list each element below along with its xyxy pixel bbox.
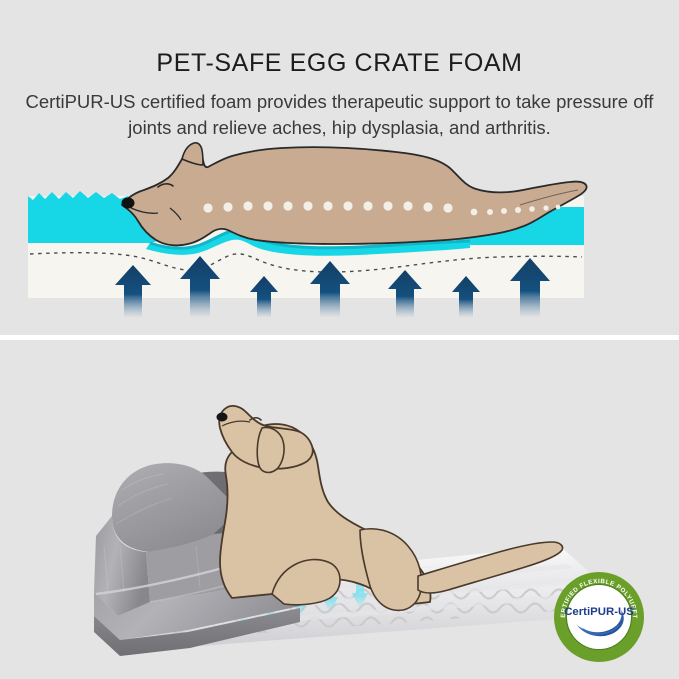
- page-title-top: PET-SAFE EGG CRATE FOAM: [0, 49, 679, 78]
- certipur-us-seal: CONTAINS CERTIFIED FLEXIBLE POLYURETHANE…: [553, 571, 645, 663]
- dog-nose: [122, 198, 135, 209]
- product-infographic: PET-SAFE EGG CRATE FOAM CertiPUR-US cert…: [0, 0, 679, 679]
- dog-nose: [217, 413, 228, 422]
- panel-description-top: CertiPUR-US certified foam provides ther…: [22, 89, 657, 141]
- panel-pet-safe-egg-crate-foam: PET-SAFE EGG CRATE FOAM CertiPUR-US cert…: [0, 0, 679, 337]
- dog-ear: [257, 427, 284, 472]
- seal-brand-text: CertiPUR-US: [564, 606, 634, 618]
